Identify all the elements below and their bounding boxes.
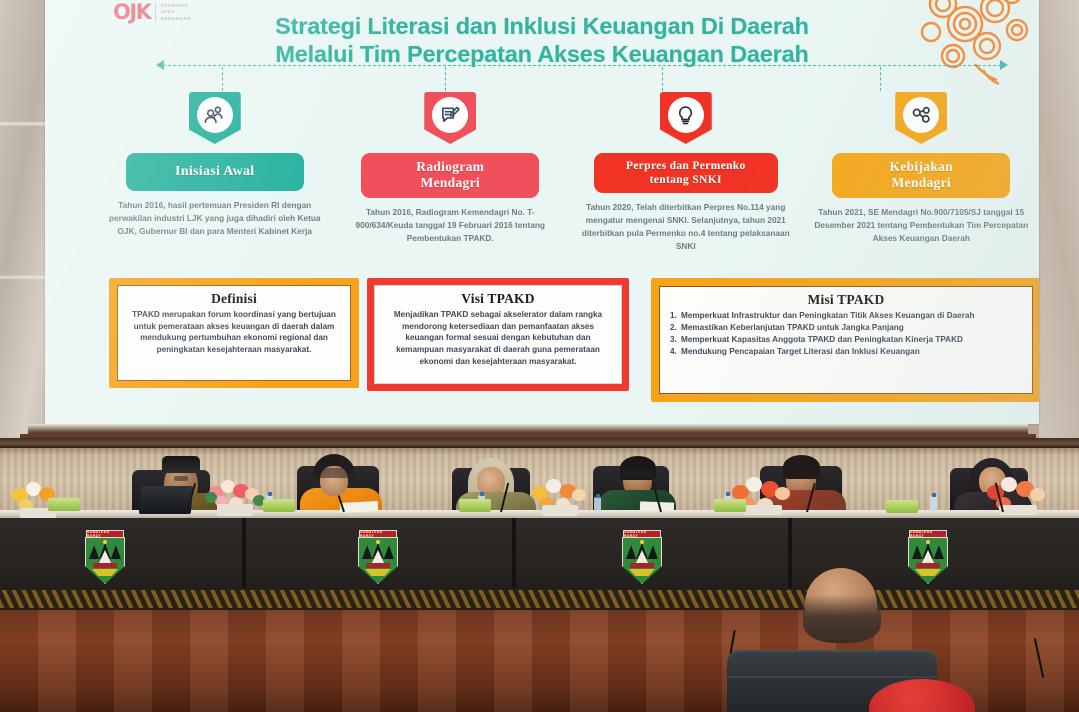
milestone-card-inisiasi-awal: Inisiasi Awal Tahun 2016, hasil pertemua… — [97, 92, 333, 272]
milestone-card-perpres-permenko: Perpres dan Permenkotentang SNKI Tahun 2… — [568, 92, 804, 272]
emblem-banner-label: SUMATERA BARAT — [909, 530, 947, 538]
definisi-text: TPAKD merupakan forum koordinasi yang be… — [126, 309, 342, 356]
province-emblem: SUMATERA BARAT — [358, 530, 398, 584]
card-label: Perpres dan Permenkotentang SNKI — [594, 153, 778, 193]
foreground-attendee-hair — [803, 595, 881, 643]
users-icon — [203, 104, 226, 127]
misi-box: Misi TPAKD 1.Memperkuat Infrastruktur da… — [651, 278, 1039, 402]
desk-tray — [886, 500, 918, 513]
province-emblem: SUMATERA BARAT — [908, 530, 948, 584]
slide-title: Strategi Literasi dan Inklusi Keuangan D… — [45, 12, 1039, 68]
province-emblem: SUMATERA BARAT — [85, 530, 125, 584]
desk-tray — [263, 499, 295, 512]
timeline-axis — [157, 64, 1007, 67]
lightbulb-icon — [674, 104, 697, 127]
definisi-title: Definisi — [126, 291, 342, 307]
card-body-text: Tahun 2021, SE Mendagri No.900/7105/SJ t… — [810, 206, 1032, 245]
water-bottle — [594, 497, 601, 513]
milestone-cards: Inisiasi Awal Tahun 2016, hasil pertemua… — [97, 92, 1039, 272]
card-body-text: Tahun 2020, Telah diterbitkan Perpres No… — [578, 201, 794, 252]
card-badge — [660, 92, 712, 144]
flower-arrangement — [530, 478, 590, 514]
emblem-banner-label: SUMATERA BARAT — [86, 530, 124, 538]
card-badge — [895, 92, 947, 144]
projection-screen: OJK OTORITASJASAKEUANGAN — [45, 0, 1039, 424]
card-label: RadiogramMendagri — [361, 153, 539, 198]
card-badge — [189, 92, 241, 144]
card-body-text: Tahun 2016, Radiogram Kemendagri No. T-9… — [344, 206, 556, 245]
flower-arrangement — [205, 478, 265, 514]
slide-title-line-1: Strategi Literasi dan Inklusi Keuangan D… — [45, 12, 1039, 40]
card-badge — [424, 92, 476, 144]
dais-decorative-grille — [0, 588, 1079, 610]
emblem-banner-label: SUMATERA BARAT — [359, 530, 397, 538]
timeline-arrow-right-icon — [1000, 60, 1008, 70]
province-emblem: SUMATERA BARAT — [622, 530, 662, 584]
desk-tray — [459, 499, 491, 512]
definisi-box: Definisi TPAKD merupakan forum koordinas… — [109, 278, 359, 388]
misi-list-item: 4.Mendukung Pencapaian Target Literasi d… — [670, 346, 1022, 358]
misi-list-item: 2.Memastikan Keberlanjutan TPAKD untuk J… — [670, 322, 1022, 334]
dais-top-cap — [0, 438, 1079, 448]
milestone-card-kebijakan-mendagri: KebijakanMendagri Tahun 2021, SE Mendagr… — [804, 92, 1040, 272]
right-wall-panel — [1039, 0, 1079, 452]
water-bottle — [930, 496, 937, 512]
network-nodes-icon — [910, 104, 933, 127]
misi-list-item: 1.Memperkuat Infrastruktur dan Peningkat… — [670, 310, 1022, 322]
tablet-device — [139, 486, 193, 514]
edit-document-icon — [439, 104, 462, 127]
milestone-card-radiogram-mendagri: RadiogramMendagri Tahun 2016, Radiogram … — [333, 92, 569, 272]
document-papers — [340, 501, 378, 513]
misi-list-item: 3.Memperkuat Kapasitas Anggota TPAKD dan… — [670, 334, 1022, 346]
desk-tray — [48, 498, 80, 511]
visi-title: Visi TPAKD — [383, 291, 613, 307]
card-body-text: Tahun 2016, hasil pertemuan Presiden RI … — [101, 199, 329, 238]
desk-tray — [714, 499, 746, 512]
card-label: Inisiasi Awal — [126, 153, 304, 191]
conference-room: OJK OTORITASJASAKEUANGAN — [0, 0, 1079, 712]
timeline-arrow-left-icon — [156, 60, 164, 70]
visi-text: Menjadikan TPAKD sebagai akselerator dal… — [383, 309, 613, 367]
flower-arrangement — [985, 476, 1051, 514]
misi-list: 1.Memperkuat Infrastruktur dan Peningkat… — [668, 310, 1024, 358]
emblem-banner-label: SUMATERA BARAT — [623, 530, 661, 538]
misi-title: Misi TPAKD — [668, 292, 1024, 308]
card-label: KebijakanMendagri — [832, 153, 1010, 198]
visi-box: Visi TPAKD Menjadikan TPAKD sebagai akse… — [367, 278, 629, 391]
presentation-slide: OJK OTORITASJASAKEUANGAN — [45, 0, 1039, 424]
info-boxes: Definisi TPAKD merupakan forum koordinas… — [101, 278, 1039, 406]
